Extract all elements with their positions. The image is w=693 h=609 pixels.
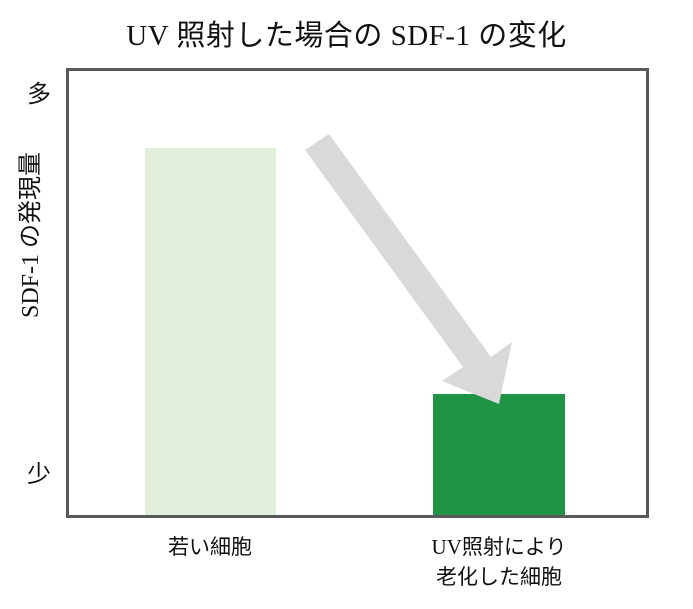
x-axis-label-young-cells-line-1: 若い細胞	[90, 532, 330, 562]
page-title: UV 照射した場合の SDF-1 の変化	[0, 18, 693, 54]
y-axis-tick-high: 多	[18, 82, 60, 108]
x-axis-label-uv-aged-cells-line-2: 老化した細胞	[380, 562, 618, 592]
plot-area	[69, 71, 646, 515]
x-axis-label-young-cells: 若い細胞	[90, 532, 330, 562]
y-axis-tick-low: 少	[18, 462, 60, 488]
chart-figure: UV 照射した場合の SDF-1 の変化 多 少 SDF-1 の発現量 若い細胞…	[0, 0, 693, 609]
bar-uv-aged-cells	[433, 394, 565, 515]
y-axis-label: SDF-1 の発現量	[18, 110, 44, 360]
bar-young-cells	[145, 148, 276, 515]
x-axis-label-uv-aged-cells-line-1: UV照射により	[380, 532, 618, 562]
x-axis-label-uv-aged-cells: UV照射により 老化した細胞	[380, 532, 618, 592]
